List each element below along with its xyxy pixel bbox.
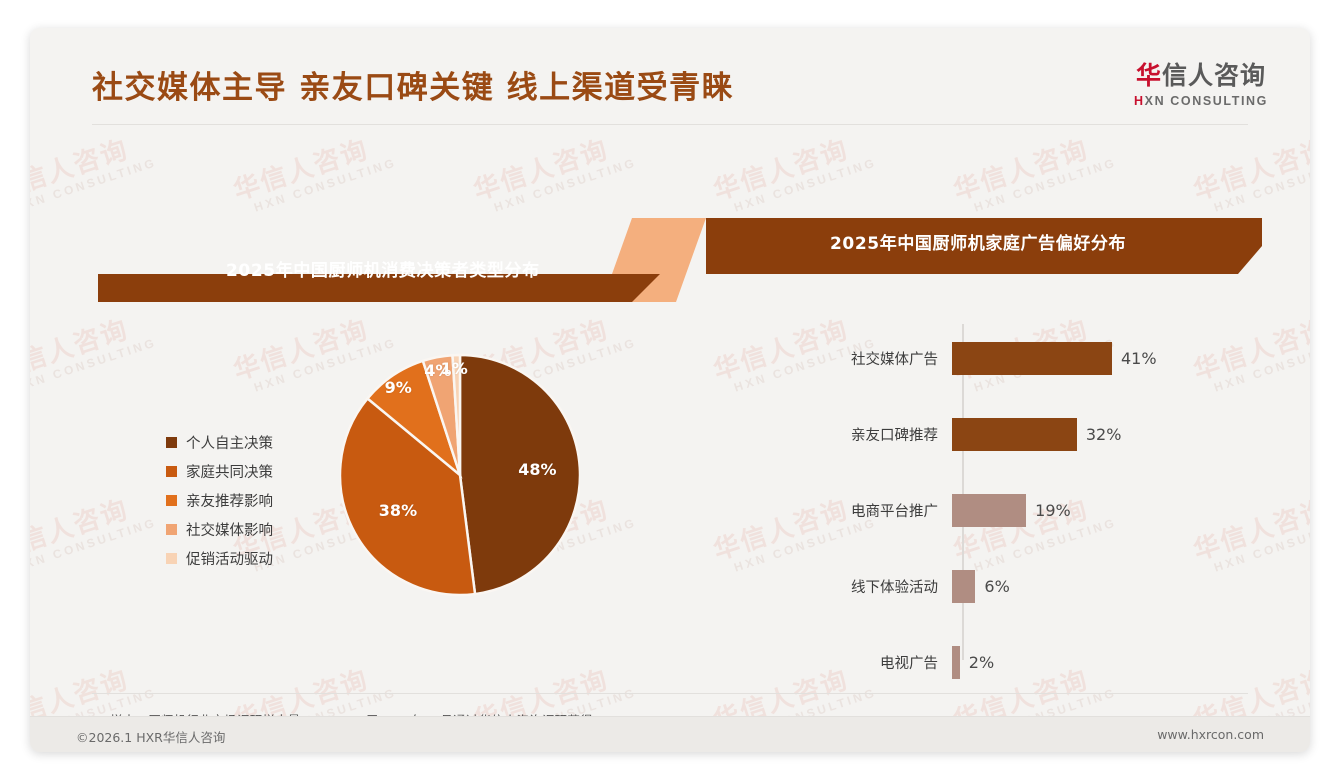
logo-cn-rest: 信人咨询 bbox=[1162, 61, 1266, 90]
footer-copyright: ©2026.1 HXR华信人咨询 bbox=[76, 727, 225, 746]
footnote-divider bbox=[92, 693, 1248, 694]
header-divider bbox=[92, 124, 1248, 125]
banner-shapes bbox=[30, 28, 1310, 752]
banner-group: 2025年中国厨师机消费决策者类型分布 2025年中国厨师机家庭广告偏好分布 bbox=[30, 28, 1310, 752]
footer-website: www.hxrcon.com bbox=[1157, 727, 1264, 742]
page-title: 社交媒体主导 亲友口碑关键 线上渠道受青睐 bbox=[92, 62, 734, 107]
logo-chinese-text: 华信人咨询 bbox=[1134, 56, 1268, 92]
logo-english-text: HXN CONSULTING bbox=[1134, 94, 1268, 108]
left-banner-title: 2025年中国厨师机消费决策者类型分布 bbox=[226, 256, 540, 281]
footer-bar: ©2026.1 HXR华信人咨询 www.hxrcon.com bbox=[30, 716, 1310, 752]
slide-header: 社交媒体主导 亲友口碑关键 线上渠道受青睐 华信人咨询 HXN CONSULTI… bbox=[30, 28, 1310, 125]
company-logo: 华信人咨询 HXN CONSULTING bbox=[1134, 56, 1268, 108]
logo-cn-red: 华 bbox=[1136, 61, 1162, 90]
right-banner-title: 2025年中国厨师机家庭广告偏好分布 bbox=[830, 229, 1126, 254]
logo-en-rest: XN CONSULTING bbox=[1145, 94, 1268, 108]
slide-canvas: 华信人咨询HXN CONSULTING华信人咨询HXN CONSULTING华信… bbox=[30, 28, 1310, 752]
logo-en-red: H bbox=[1134, 94, 1145, 108]
